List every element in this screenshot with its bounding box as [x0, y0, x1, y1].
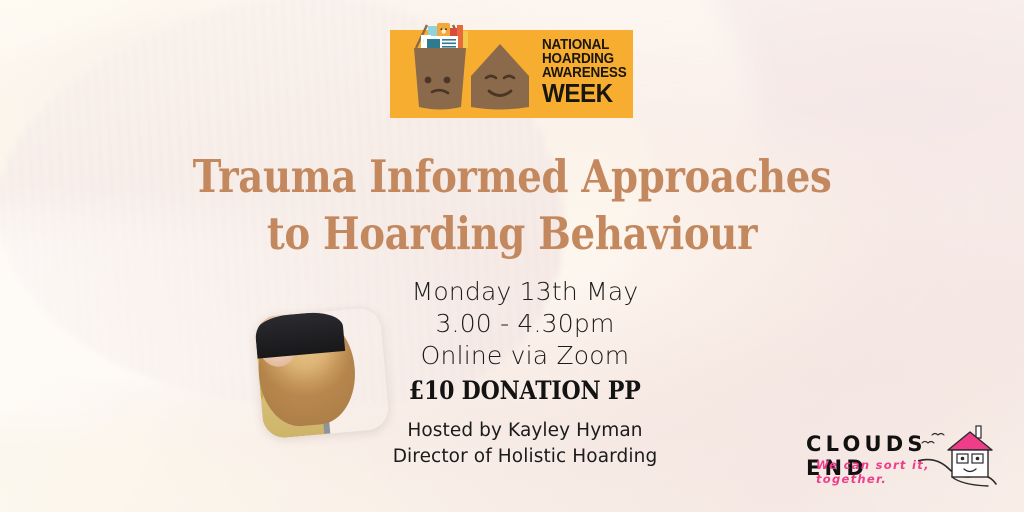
- page-title: Trauma Informed Approaches to Hoarding B…: [0, 148, 1024, 262]
- donation-price: £10 DONATION PP: [330, 376, 720, 405]
- nhaw-line-national: NATIONAL: [542, 38, 628, 52]
- clouds-end-logo: CLOUDS END We can sort it, together.: [806, 428, 996, 488]
- event-poster: NEWS NATIONAL HOARDING AWARENESS WEEK Tr…: [0, 0, 1024, 512]
- hoarding-box-and-house-icon: NEWS: [390, 14, 540, 118]
- host-name: Hosted by Kayley Hyman: [330, 418, 720, 444]
- event-platform: Online via Zoom: [330, 340, 720, 372]
- event-details: Monday 13th May 3.00 - 4.30pm Online via…: [330, 276, 720, 405]
- clouds-end-house-icon: [918, 424, 1000, 490]
- page-title-line-1: Trauma Informed Approaches: [72, 148, 953, 205]
- nhaw-line-week: WEEK: [542, 81, 628, 106]
- event-time: 3.00 - 4.30pm: [330, 308, 720, 340]
- donation-price-text: £10 DONATION PP: [409, 376, 641, 405]
- nhaw-line-hoarding: HOARDING: [542, 52, 628, 66]
- page-title-line-2: to Hoarding Behaviour: [72, 205, 953, 262]
- host-title: Director of Holistic Hoarding: [330, 444, 720, 470]
- event-date: Monday 13th May: [330, 276, 720, 308]
- host-info: Hosted by Kayley Hyman Director of Holis…: [330, 418, 720, 470]
- national-hoarding-awareness-week-banner: NEWS NATIONAL HOARDING AWARENESS WEEK: [390, 30, 633, 118]
- nhaw-wordmark: NATIONAL HOARDING AWARENESS WEEK: [542, 38, 634, 106]
